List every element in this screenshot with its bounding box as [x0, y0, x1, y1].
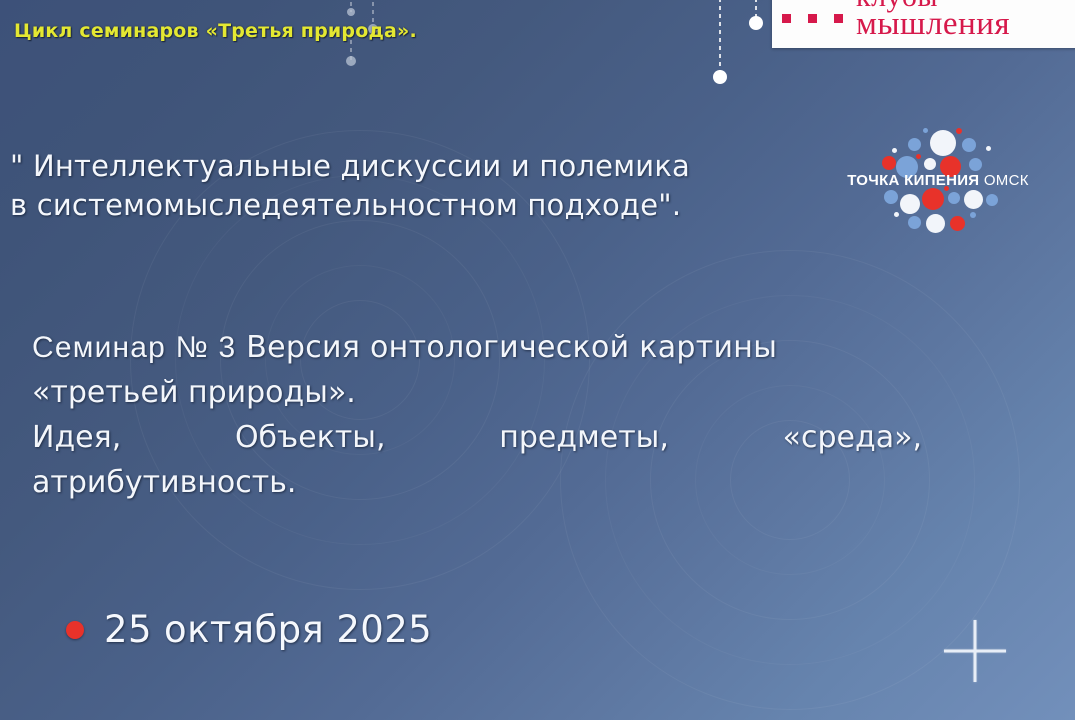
logo-kluby-line2: мышления	[856, 8, 1010, 41]
pendant-decoration-3	[344, 40, 358, 72]
pendant-decoration-4	[712, 0, 728, 94]
logo-tk-city: ОМСК	[979, 172, 1028, 189]
logo-tk-name: ТОЧКА КИПЕНИЯ	[847, 172, 979, 189]
seminar-heading-line: Семинар № 3 Версия онтологической картин…	[32, 325, 922, 370]
plus-mark-icon	[944, 620, 1006, 682]
event-date: 25 октября 2025	[104, 608, 432, 651]
logo-tochka-kipeniya-omsk: ТОЧКА КИПЕНИЯ ОМСК	[838, 128, 1038, 240]
slide-kicker: Цикл семинаров «Третья природа».	[14, 20, 417, 42]
seminar-number-label: Семинар № 3	[32, 331, 236, 364]
slide-body: Семинар № 3 Версия онтологической картин…	[32, 325, 922, 505]
topics-line-1: Идея, Объекты, предметы, «среда»,	[32, 415, 922, 460]
slide-title-line-2: в системомыследеятельностном подходе".	[10, 186, 830, 225]
seminar-subject-text: Версия онтологической картины	[236, 330, 777, 365]
logo-kluby-dot-mark-icon	[1001, 0, 1021, 4]
logo-dots-grid-icon	[782, 0, 848, 40]
topics-line-2: атрибутивность.	[32, 460, 922, 505]
logo-tochka-kipeniya-text: ТОЧКА КИПЕНИЯ ОМСК	[838, 173, 1038, 189]
bullet-dot-icon	[66, 621, 84, 639]
pendant-decoration-5	[748, 0, 764, 40]
seminar-subject-continuation: «третьей природы».	[32, 370, 922, 415]
pendant-decoration-1	[344, 0, 358, 20]
slide-title-line-1: " Интеллектуальные дискуссии и полемика	[10, 147, 830, 186]
event-date-row: 25 октября 2025	[66, 608, 432, 651]
slide-title: " Интеллектуальные дискуссии и полемика …	[10, 147, 830, 225]
presentation-slide: Цикл семинаров «Третья природа». " Интел…	[0, 0, 1075, 720]
logo-kluby-myshleniya: клубы мышления	[772, 0, 1075, 48]
